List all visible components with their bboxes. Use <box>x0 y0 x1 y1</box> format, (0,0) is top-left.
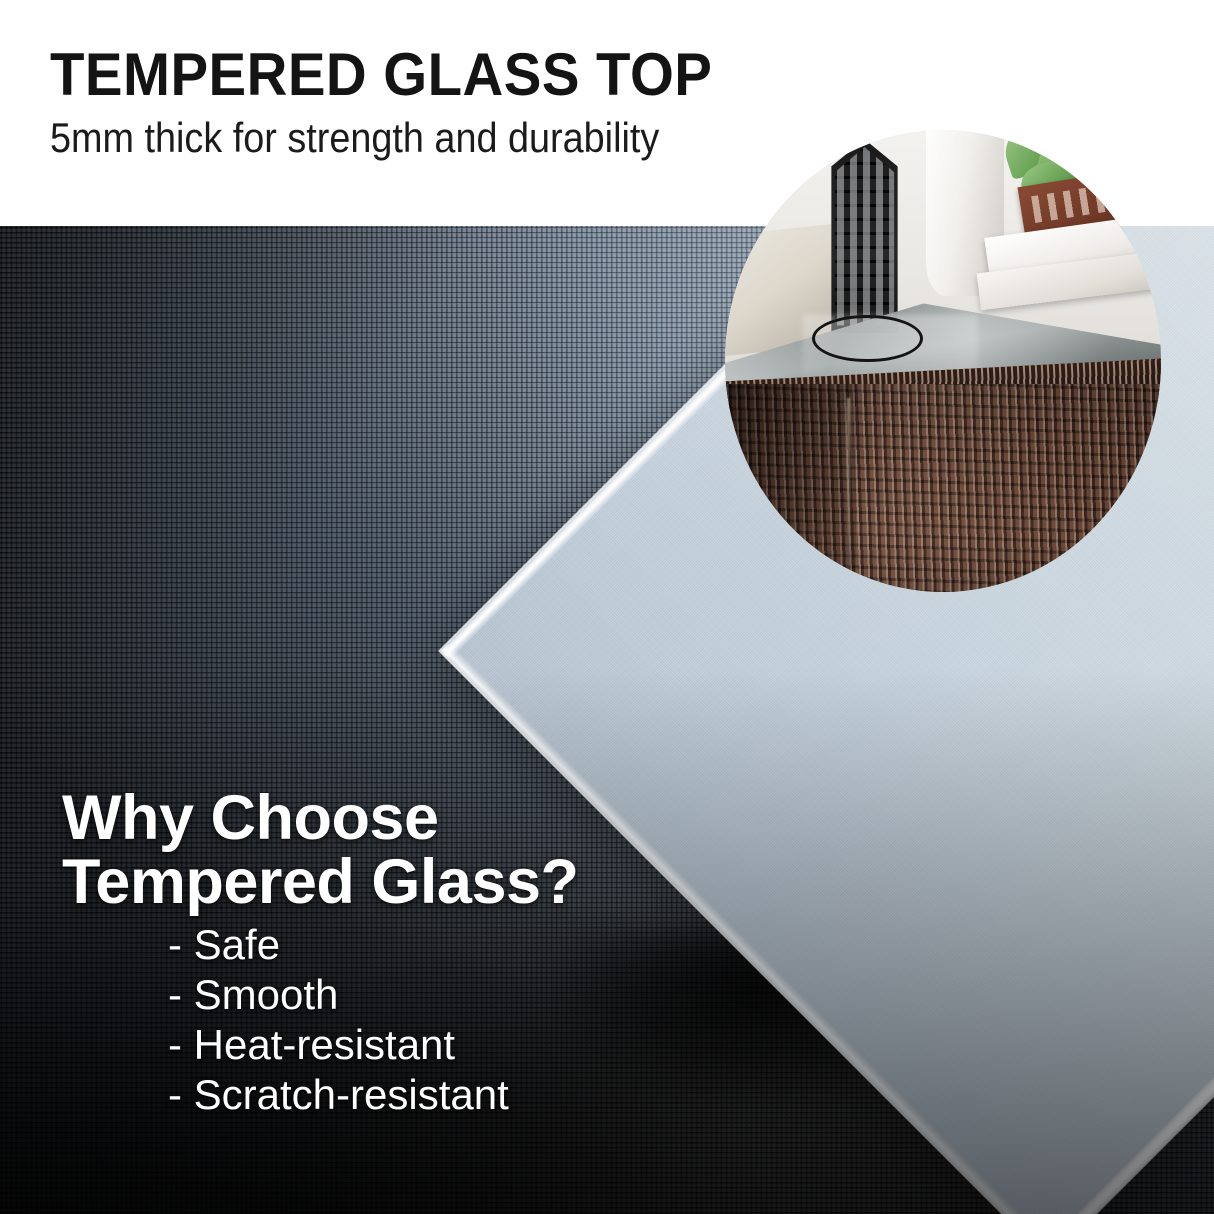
list-item: - Heat-resistant <box>168 1020 509 1070</box>
page-subtitle: 5mm thick for strength and durability <box>50 114 659 162</box>
inset-scene <box>725 130 1161 592</box>
list-item: - Scratch-resistant <box>168 1070 509 1120</box>
circular-inset-photo <box>725 130 1161 592</box>
features-heading: Why Choose Tempered Glass? <box>62 786 579 915</box>
page-title: TEMPERED GLASS TOP <box>50 40 712 109</box>
list-item: - Smooth <box>168 970 509 1020</box>
features-list: - Safe - Smooth - Heat-resistant - Scrat… <box>168 920 509 1120</box>
infographic-canvas: TEMPERED GLASS TOP 5mm thick for strengt… <box>0 0 1214 1214</box>
inset-lantern-base-ring <box>812 315 923 363</box>
list-item: - Safe <box>168 920 509 970</box>
inset-wicker-corner-edge <box>847 398 850 592</box>
inset-wicker-left-facet-shading <box>725 384 856 592</box>
